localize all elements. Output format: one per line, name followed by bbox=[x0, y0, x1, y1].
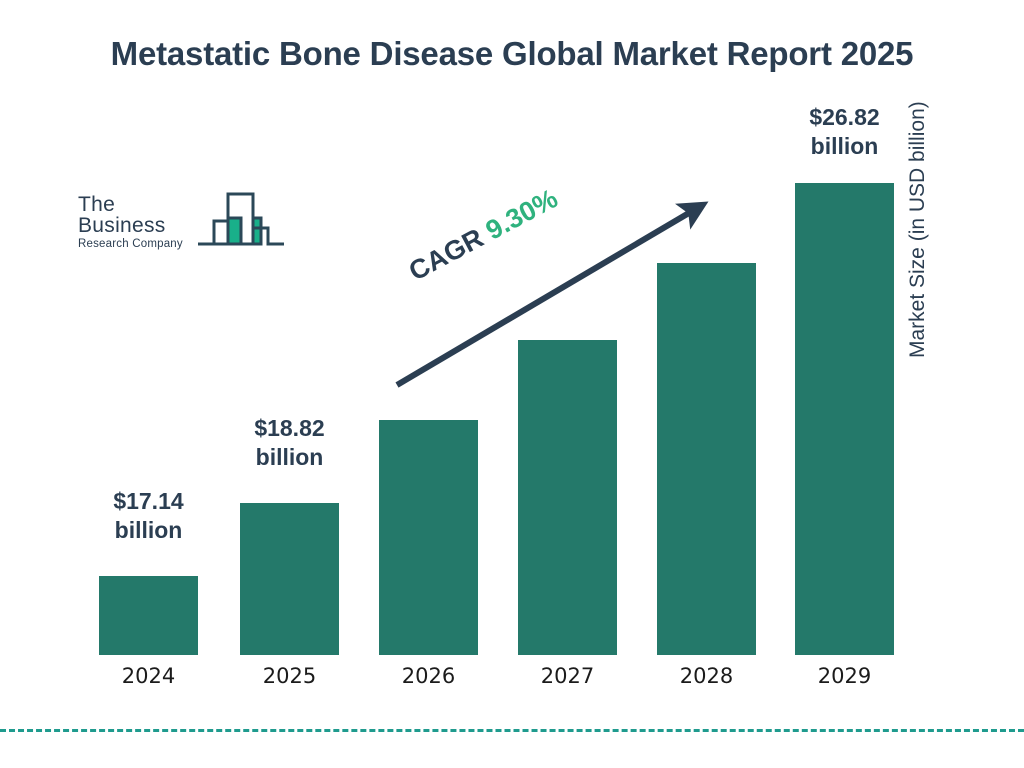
bar-chart-plot: $17.14 billion 2024 $18.82 billion 2025 … bbox=[0, 0, 1024, 768]
bar-2029[interactable] bbox=[795, 183, 894, 655]
bar-value-2025: $18.82 billion bbox=[220, 414, 359, 472]
y-axis-label: Market Size (in USD billion) bbox=[906, 18, 930, 358]
xtick-2025: 2025 bbox=[220, 664, 359, 688]
bar-2025[interactable] bbox=[240, 503, 339, 655]
xtick-2026: 2026 bbox=[359, 664, 498, 688]
bar-value-2029: $26.82 billion bbox=[775, 103, 914, 161]
bar-value-amount-2024: $17.14 bbox=[79, 487, 218, 516]
bar-value-unit-2029: billion bbox=[775, 132, 914, 161]
bar-2024[interactable] bbox=[99, 576, 198, 655]
bar-value-unit-2024: billion bbox=[79, 516, 218, 545]
bar-value-unit-2025: billion bbox=[220, 443, 359, 472]
bar-value-2024: $17.14 billion bbox=[79, 487, 218, 545]
footer-divider bbox=[0, 729, 1024, 732]
bar-2027[interactable] bbox=[518, 340, 617, 655]
bar-2028[interactable] bbox=[657, 263, 756, 655]
bar-value-amount-2025: $18.82 bbox=[220, 414, 359, 443]
bar-value-amount-2029: $26.82 bbox=[775, 103, 914, 132]
xtick-2024: 2024 bbox=[79, 664, 218, 688]
bar-2026[interactable] bbox=[379, 420, 478, 655]
xtick-2028: 2028 bbox=[637, 664, 776, 688]
chart-page: Metastatic Bone Disease Global Market Re… bbox=[0, 0, 1024, 768]
xtick-2029: 2029 bbox=[775, 664, 914, 688]
xtick-2027: 2027 bbox=[498, 664, 637, 688]
